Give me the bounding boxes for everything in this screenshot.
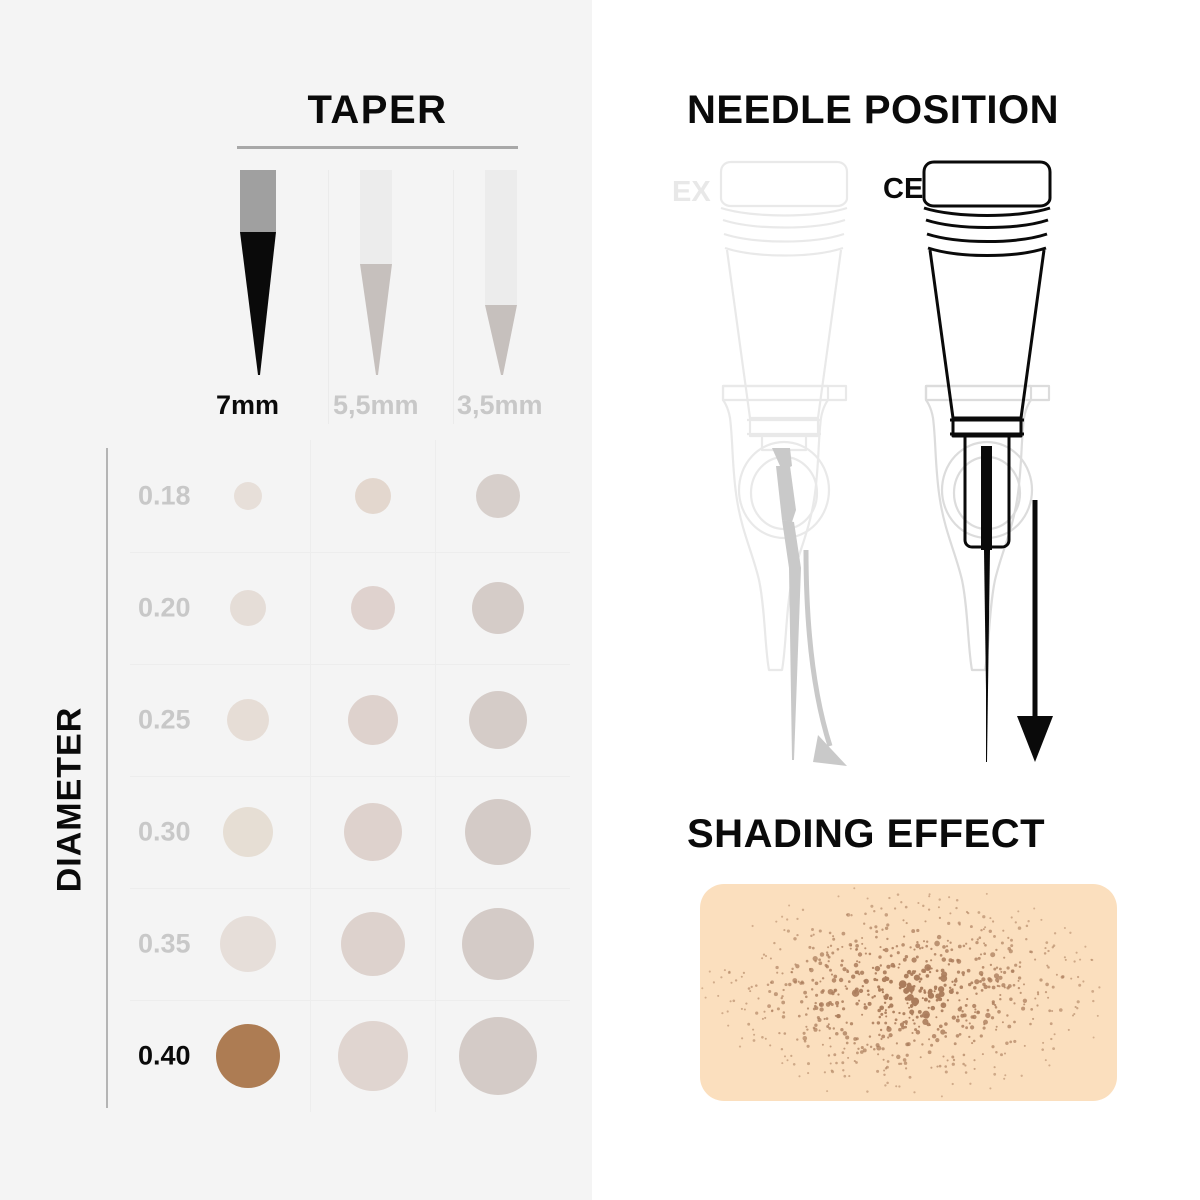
diameter-dot[interactable] <box>338 1021 408 1091</box>
diameter-dot[interactable] <box>459 1017 537 1095</box>
diameter-value-label: 0.30 <box>138 817 191 848</box>
diameter-dot[interactable] <box>348 695 398 745</box>
shading-effect-swatch <box>700 884 1117 1101</box>
diameter-dot[interactable] <box>344 803 402 861</box>
needle-position-heading: NEEDLE POSITION <box>687 88 1059 133</box>
diameter-dot[interactable] <box>220 916 276 972</box>
taper-column-separator <box>328 170 329 424</box>
diameter-row[interactable]: 0.35 <box>130 888 570 1000</box>
diameter-value-label: 0.25 <box>138 705 191 736</box>
diameter-dot[interactable] <box>465 799 531 865</box>
grid-row-separator <box>130 888 570 889</box>
needle-ex <box>772 448 801 760</box>
diameter-row[interactable]: 0.20 <box>130 552 570 664</box>
grid-row-separator <box>130 776 570 777</box>
diameter-dot[interactable] <box>216 1024 280 1088</box>
taper-underline-rule <box>237 146 518 149</box>
diameter-dot[interactable] <box>223 807 273 857</box>
taper-label-7mm: 7mm <box>216 390 279 421</box>
taper-needle-5-5mm[interactable] <box>338 170 438 420</box>
arrow-ex-curved <box>806 550 847 766</box>
diameter-row[interactable]: 0.18 <box>130 440 570 552</box>
diameter-dot[interactable] <box>234 482 262 510</box>
diameter-dot[interactable] <box>230 590 266 626</box>
needle-position-shading-panel: NEEDLE POSITION EX CE <box>592 0 1200 1200</box>
diameter-dot[interactable] <box>476 474 520 518</box>
diameter-value-label: 0.40 <box>138 1041 191 1072</box>
grid-row-separator <box>130 664 570 665</box>
taper-label-5-5mm: 5,5mm <box>333 390 419 421</box>
grid-row-separator <box>130 1000 570 1001</box>
diameter-dot[interactable] <box>341 912 405 976</box>
diameter-dot[interactable] <box>462 908 534 980</box>
diameter-row[interactable]: 0.25 <box>130 664 570 776</box>
shading-effect-heading: SHADING EFFECT <box>687 812 1045 857</box>
diameter-value-label: 0.35 <box>138 929 191 960</box>
diameter-value-label: 0.18 <box>138 481 191 512</box>
diameter-dot[interactable] <box>355 478 391 514</box>
diameter-row[interactable]: 0.30 <box>130 776 570 888</box>
taper-needle-7mm[interactable] <box>218 170 318 420</box>
taper-needle-row <box>218 170 538 420</box>
needle-ce <box>981 446 992 762</box>
diameter-dot-grid: 0.180.200.250.300.350.40 <box>130 440 570 1112</box>
taper-label-3-5mm: 3,5mm <box>457 390 543 421</box>
cartridge-ex <box>721 162 847 670</box>
diameter-dot[interactable] <box>469 691 527 749</box>
taper-heading: TAPER <box>237 88 518 133</box>
diameter-axis-title: DIAMETER <box>51 690 90 910</box>
diameter-row[interactable]: 0.40 <box>130 1000 570 1112</box>
diameter-dot[interactable] <box>227 699 269 741</box>
taper-needle-3-5mm[interactable] <box>463 170 563 420</box>
diameter-value-label: 0.20 <box>138 593 191 624</box>
diameter-dot[interactable] <box>472 582 524 634</box>
grid-row-separator <box>130 552 570 553</box>
diameter-dot[interactable] <box>351 586 395 630</box>
diameter-axis-line <box>106 448 108 1108</box>
arrow-ce-straight <box>1017 500 1053 762</box>
taper-column-separator <box>453 170 454 424</box>
cartridge-illustrations <box>592 150 1200 800</box>
taper-diameter-panel: TAPER 7mm 5,5mm 3,5mm DIAMETER <box>0 0 592 1200</box>
